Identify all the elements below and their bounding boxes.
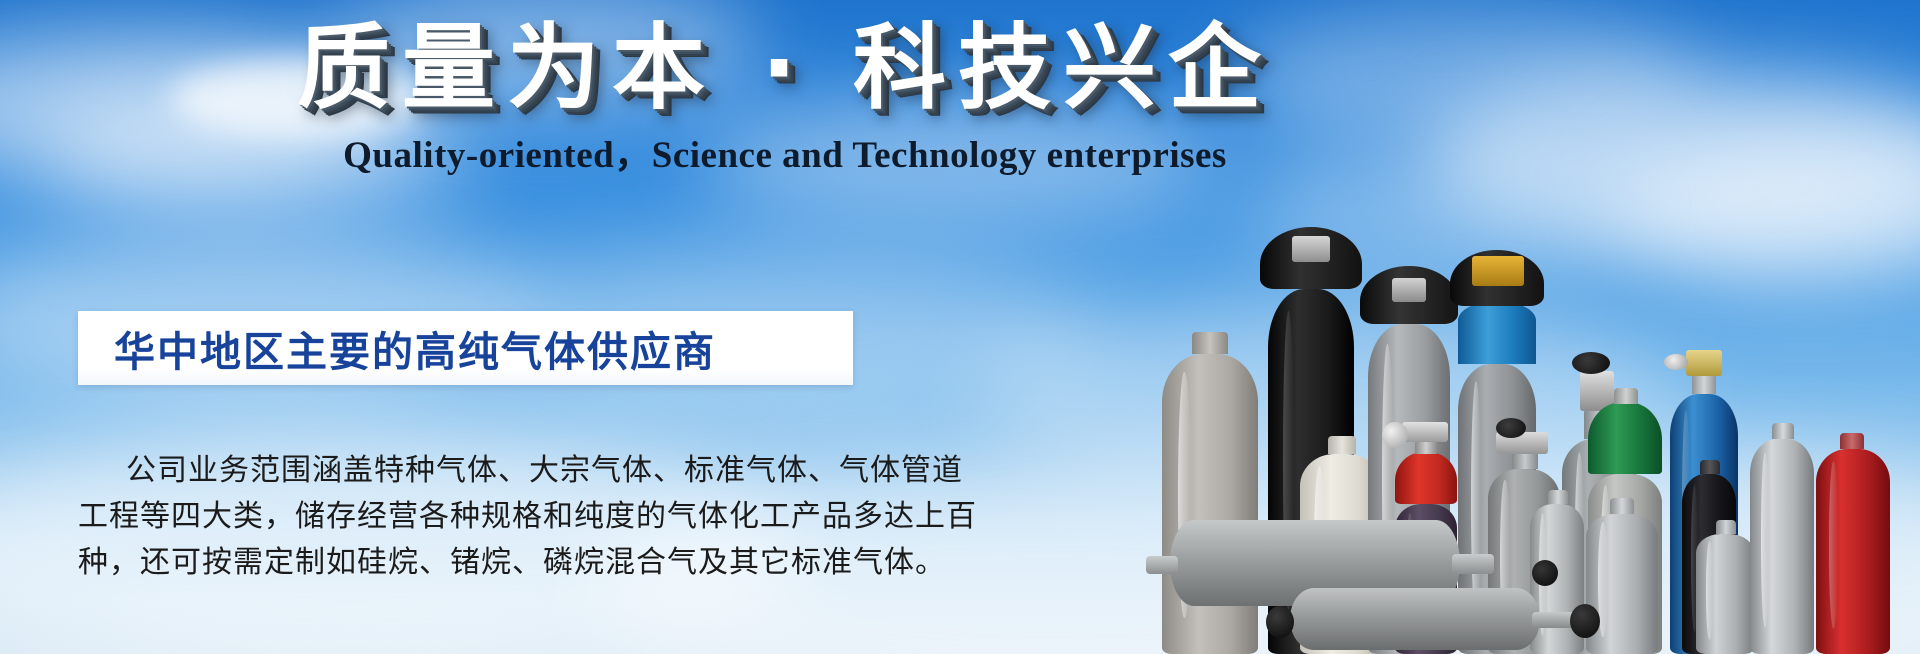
page-subtitle: Quality-oriented，Science and Technology … — [0, 124, 1570, 178]
tank-valve-knob — [1266, 606, 1294, 638]
cylinder-valve — [1686, 350, 1722, 376]
cylinder-neck — [1772, 423, 1794, 439]
gas-cylinders-photo — [1140, 150, 1920, 654]
page-title: 质量为本 · 科技兴企 — [0, 16, 1570, 120]
tank-nozzle — [1452, 554, 1494, 574]
paragraph-line: 工程等四大类，储存经营各种规格和纯度的气体化工产品多达上百 — [78, 494, 868, 540]
cylinder-green-shoulder — [1588, 402, 1662, 474]
cylinder-neck — [1840, 433, 1864, 449]
cylinder-neck — [1614, 388, 1638, 404]
cylinder-neck — [1700, 460, 1720, 474]
headline-block: 质量为本 · 科技兴企 Quality-oriented，Science and… — [0, 16, 1570, 178]
aluminium-cylinder — [1750, 439, 1814, 654]
cylinder-highlight — [1471, 381, 1481, 619]
cylinder-valve — [1292, 236, 1330, 262]
red-cylinder — [1816, 449, 1890, 654]
promo-banner: 质量为本 · 科技兴企 Quality-oriented，Science and… — [0, 0, 1920, 654]
cylinder-neck — [1192, 332, 1228, 354]
cylinder-highlight — [1761, 452, 1769, 628]
valve-handwheel — [1532, 560, 1558, 586]
small-aluminium-bottle — [1696, 534, 1754, 654]
aluminium-cylinder — [1586, 514, 1658, 654]
valve-handwheel — [1572, 352, 1610, 374]
cylinder-highlight — [1706, 541, 1714, 639]
highlight-banner-box: 华中地区主要的高纯气体供应商 — [78, 311, 853, 385]
horizontal-small-tank — [1290, 588, 1540, 650]
tank-valve-knob — [1570, 604, 1600, 638]
cylinder-valve — [1402, 422, 1448, 442]
tank-nozzle — [1146, 556, 1178, 574]
paragraph-line: 公司业务范围涵盖特种气体、大宗气体、标准气体、气体管道 — [78, 448, 868, 494]
cylinder-neck — [1328, 436, 1356, 454]
highlight-text: 华中地区主要的高纯气体供应商 — [78, 318, 716, 378]
valve-handwheel — [1664, 354, 1688, 370]
cylinder-valve — [1392, 278, 1426, 302]
description-paragraph: 公司业务范围涵盖特种气体、大宗气体、标准气体、气体管道 工程等四大类，储存经营各… — [78, 448, 868, 586]
valve-handwheel — [1382, 422, 1408, 448]
valve-handwheel — [1496, 418, 1526, 438]
cylinder-highlight — [1829, 461, 1839, 629]
cylinder-blue-band — [1458, 302, 1536, 364]
cylinder-red-shoulder — [1395, 452, 1457, 504]
cylinder-neck — [1415, 440, 1437, 454]
paragraph-line: 种，还可按需定制如硅烷、锗烷、磷烷混合气及其它标准气体。 — [78, 540, 868, 586]
cylinder-neck — [1716, 520, 1736, 534]
brass-valve — [1472, 256, 1524, 286]
cylinder-neck — [1610, 498, 1634, 514]
cylinder-neck — [1548, 490, 1568, 504]
light-grey-large-cylinder — [1162, 354, 1258, 654]
cylinder-neck — [1692, 374, 1716, 394]
